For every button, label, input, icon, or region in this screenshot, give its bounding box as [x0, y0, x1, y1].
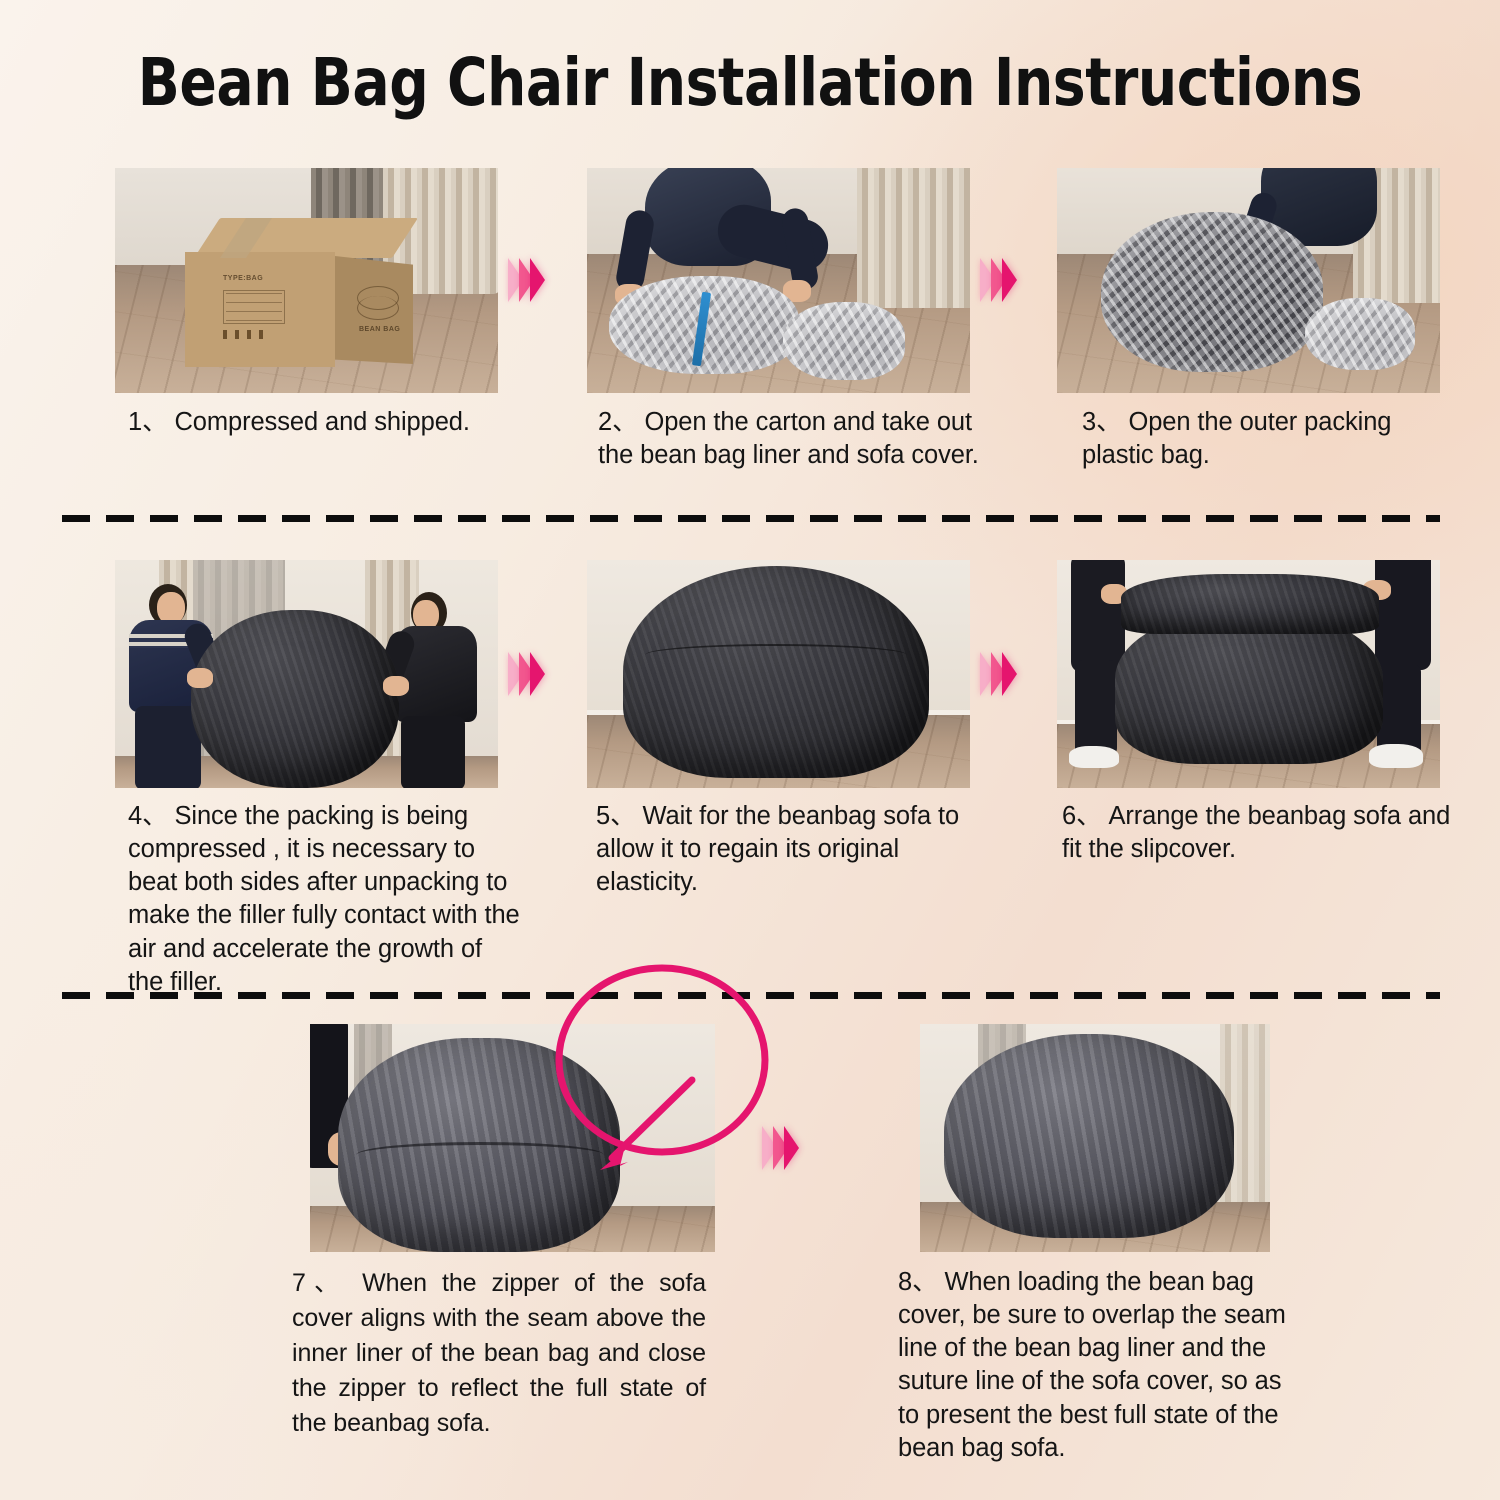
- person-left-body: [1071, 560, 1125, 672]
- step-3-caption: 3、 Open the outer packing plastic bag.: [1082, 406, 1450, 472]
- step-4-caption: 4、 Since the packing is being compressed…: [128, 800, 524, 999]
- vacuum-bag-small: [783, 302, 905, 380]
- bean-bag-logo-icon-bottom: [357, 296, 399, 320]
- finished-bean-bag-sofa: [944, 1034, 1234, 1238]
- curtain-light: [857, 168, 970, 308]
- divider-row1-row2: [62, 515, 1440, 522]
- arrow-step4-to-step5: [508, 644, 578, 704]
- divider-row2-row3: [62, 992, 1440, 999]
- step-4-scene: [115, 560, 498, 788]
- arrow-step2-to-step3: [980, 250, 1050, 310]
- outer-plastic-bag: [1101, 212, 1323, 372]
- bean-bag-body: [1115, 612, 1383, 764]
- step-6-scene: [1057, 560, 1440, 788]
- arrow-step1-to-step2: [508, 250, 578, 310]
- slipcover-being-fitted: [1121, 574, 1379, 634]
- step-2-scene: [587, 168, 970, 393]
- person-right-hand: [383, 676, 409, 696]
- chevron-5-deep: [784, 1126, 799, 1170]
- person-left-shoe: [1069, 746, 1119, 768]
- step-2-photo: [587, 168, 970, 393]
- person-right-shoe: [1369, 744, 1423, 768]
- step-6-photo: [1057, 560, 1440, 788]
- arrow-step5-to-step6: [980, 644, 1050, 704]
- step-1-caption: 1、 Compressed and shipped.: [128, 406, 528, 439]
- person-left-leg: [1075, 660, 1117, 756]
- expanded-bean-bag: [623, 566, 929, 778]
- step-2-caption: 2、 Open the carton and take out the bean…: [598, 406, 990, 472]
- step-6-caption: 6、 Arrange the beanbag sofa and fit the …: [1062, 800, 1452, 866]
- box-icons: [223, 330, 269, 339]
- bean-bag-liner: [191, 610, 399, 788]
- step-8-scene: [920, 1024, 1270, 1252]
- box-shipping-label: [223, 290, 285, 324]
- step-5-scene: [587, 560, 970, 788]
- step-1-photo: TYPE:BAG BEAN BAG: [115, 168, 498, 393]
- chevron-3-deep: [530, 652, 545, 696]
- step-7-photo: [310, 1024, 715, 1252]
- step-7-caption: 7、 When the zipper of the sofa cover ali…: [292, 1266, 706, 1441]
- step-8-photo: [920, 1024, 1270, 1252]
- person-right-body: [1375, 560, 1431, 670]
- step-7-scene: [310, 1024, 715, 1252]
- chevron-1-deep: [530, 258, 545, 302]
- step-8-caption: 8、 When loading the bean bag cover, be s…: [898, 1266, 1296, 1465]
- zipper-seam-line: [356, 1142, 604, 1168]
- chevron-4-deep: [1002, 652, 1017, 696]
- person-right-leg: [1377, 664, 1421, 756]
- bean-bag-seam: [645, 644, 907, 666]
- step-3-scene: [1057, 168, 1440, 393]
- person-right-legs: [401, 716, 465, 788]
- step-4-photo: [115, 560, 498, 788]
- step-3-photo: [1057, 168, 1440, 393]
- step-5-photo: [587, 560, 970, 788]
- secondary-bag: [1305, 298, 1415, 370]
- box-brand-text: BEAN BAG: [359, 326, 400, 333]
- arrow-step7-to-step8: [762, 1118, 832, 1178]
- step-1-scene: TYPE:BAG BEAN BAG: [115, 168, 498, 393]
- page-title: Bean Bag Chair Installation Instructions: [53, 44, 1448, 121]
- box-label-lines: [226, 293, 282, 321]
- step-5-caption: 5、 Wait for the beanbag sofa to allow it…: [596, 800, 986, 899]
- box-code-text: TYPE:BAG: [223, 275, 263, 282]
- chevron-2-deep: [1002, 258, 1017, 302]
- person-left-hand: [187, 668, 213, 688]
